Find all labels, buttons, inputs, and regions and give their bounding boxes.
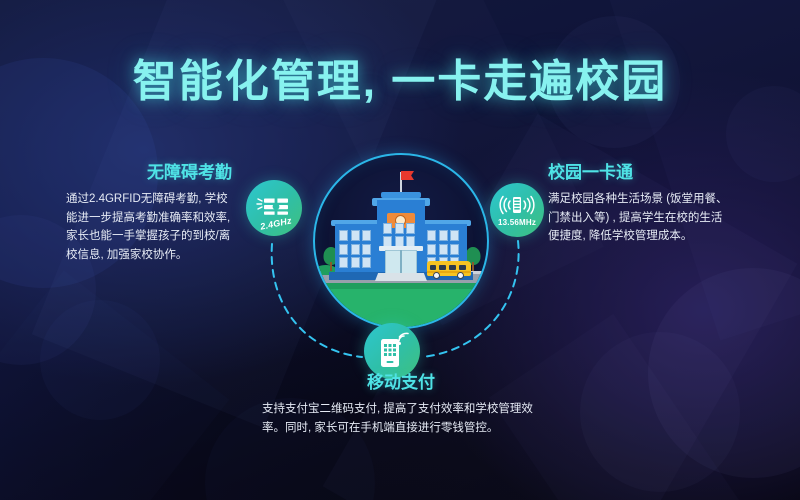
background-bokeh-circle xyxy=(648,268,800,478)
school-campus-illustration xyxy=(313,153,489,329)
nfc-card-wave-icon xyxy=(497,193,537,217)
feature-block-campus-card: 校园一卡通 满足校园各种生活场景 (饭堂用餐、门禁出入等) , 提高学生在校的生… xyxy=(548,158,730,246)
background-bokeh-circle xyxy=(580,332,740,492)
entrance-steps xyxy=(375,273,427,281)
flag-icon xyxy=(401,171,414,180)
phone-nfc-icon xyxy=(375,332,409,370)
rfid-chip-icon xyxy=(256,189,292,219)
feature-block-mobile-payment: 移动支付 支持支付宝二维码支付, 提高了支付效率和学校管理效率。同时, 家长可在… xyxy=(262,368,540,437)
window-grid xyxy=(383,223,415,248)
badge-nfc-1356mhz[interactable]: 13.56MHz xyxy=(490,183,544,237)
entrance-door-divider xyxy=(400,250,402,274)
feature-body-attendance: 通过2.4GRFID无障碍考勤, 学校能进一步提高考勤准确率和效率, 家长也能一… xyxy=(66,190,238,265)
badge-nfc-label: 13.56MHz xyxy=(498,219,536,227)
background-bokeh-circle xyxy=(40,300,160,420)
feature-body-mobile-payment: 支持支付宝二维码支付, 提高了支付效率和学校管理效率。同时, 家长可在手机端直接… xyxy=(262,400,540,437)
badge-rfid-24ghz[interactable]: 2.4GHz xyxy=(246,180,302,236)
school-bus-icon xyxy=(427,260,471,279)
window-grid xyxy=(339,230,371,268)
page-title: 智能化管理, 一卡走遍校园 xyxy=(0,45,800,109)
feature-block-attendance: 无障碍考勤 通过2.4GRFID无障碍考勤, 学校能进一步提高考勤准确率和效率,… xyxy=(66,158,238,265)
slide-canvas: 智能化管理, 一卡走遍校园 xyxy=(0,0,800,500)
feature-heading-campus-card: 校园一卡通 xyxy=(548,158,730,183)
background-facet xyxy=(0,270,229,500)
feature-heading-mobile-payment: 移动支付 xyxy=(262,368,540,393)
feature-heading-attendance: 无障碍考勤 xyxy=(66,158,238,183)
feature-body-campus-card: 满足校园各种生活场景 (饭堂用餐、门禁出入等) , 提高学生在校的生活便捷度, … xyxy=(548,190,730,246)
